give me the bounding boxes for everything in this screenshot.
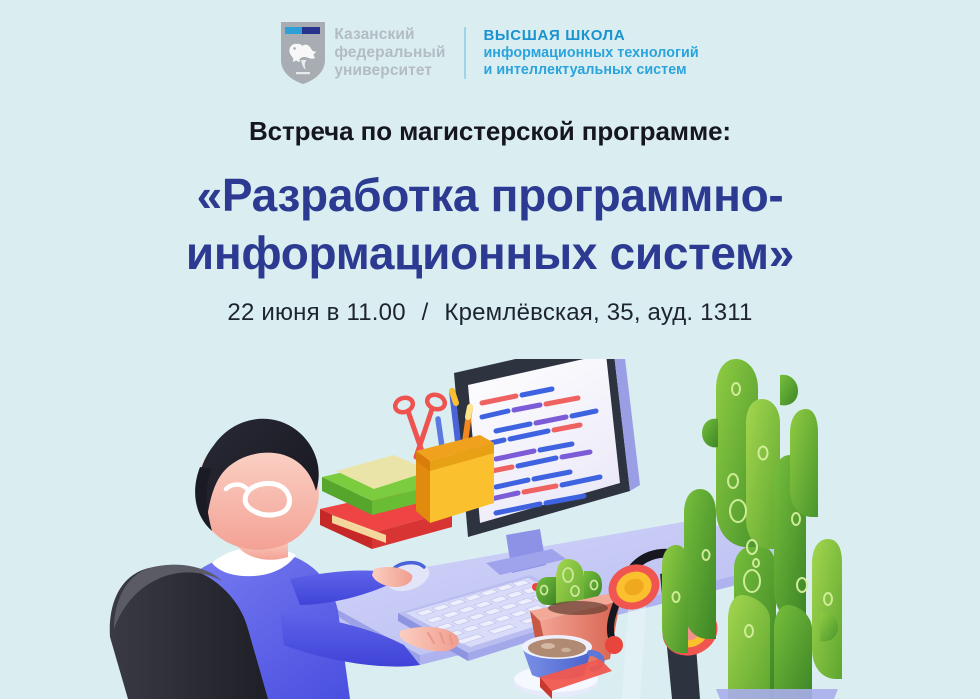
- kfu-shield-emblem-icon: [281, 22, 325, 84]
- logo-lockup: Казанский федеральный университет ВЫСШАЯ…: [0, 22, 980, 84]
- event-datetime: 22 июня в 11.00: [227, 299, 405, 326]
- page-title-line1: «Разработка программно-: [0, 167, 980, 225]
- workspace-illustration: [0, 359, 980, 699]
- kfu-wordmark-line1: Казанский: [334, 26, 445, 44]
- event-meta: 22 июня в 11.00 / Кремлёвская, 35, ауд. …: [0, 299, 980, 327]
- poster-root: Казанский федеральный университет ВЫСШАЯ…: [0, 0, 980, 699]
- school-wordmark-line3: и интеллектуальных систем: [483, 62, 698, 79]
- kfu-wordmark-line3: университет: [334, 62, 445, 80]
- event-meta-separator: /: [413, 299, 438, 326]
- school-wordmark: ВЫСШАЯ ШКОЛА информационных технологий и…: [483, 27, 698, 79]
- tall-cactus-pot: [716, 689, 838, 699]
- school-wordmark-line1: ВЫСШАЯ ШКОЛА: [483, 27, 698, 45]
- school-wordmark-line2: информационных технологий: [483, 45, 698, 62]
- headphone-ear-small: [605, 636, 623, 654]
- lockup-divider: [464, 27, 466, 79]
- page-title: «Разработка программно- информационных с…: [0, 167, 980, 283]
- page-title-line2: информационных систем»: [0, 225, 980, 283]
- kicker-text: Встреча по магистерской программе:: [0, 116, 980, 147]
- kfu-wordmark-line2: федеральный: [334, 44, 445, 62]
- logo-inner: Казанский федеральный университет ВЫСШАЯ…: [281, 22, 698, 84]
- event-location: Кремлёвская, 35, ауд. 1311: [444, 299, 752, 326]
- kfu-wordmark: Казанский федеральный университет: [334, 26, 445, 80]
